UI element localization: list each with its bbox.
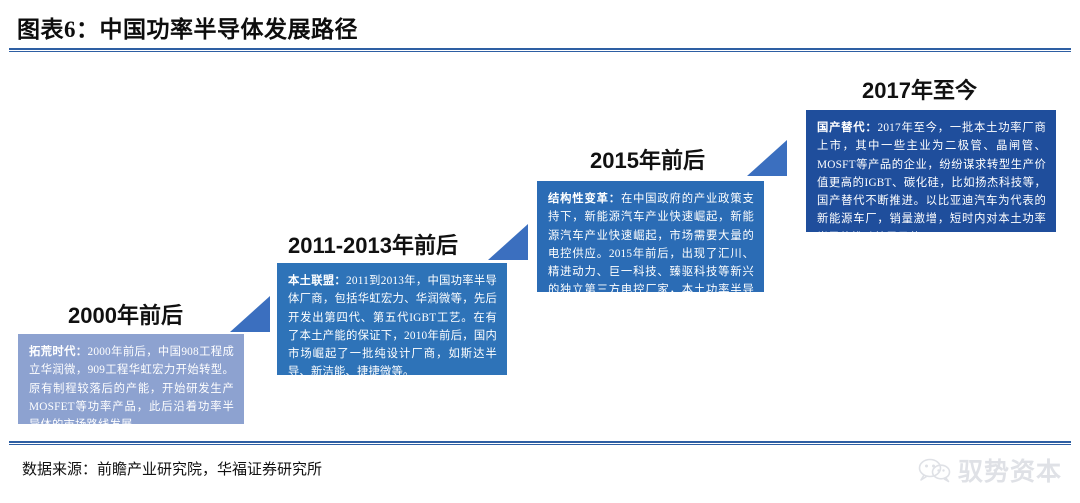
watermark: 驭势资本 — [918, 452, 1062, 488]
stage-body-2: 2011到2013年，中国功率半导体厂商，包括华虹宏力、华润微等，先后开发出第四… — [288, 275, 497, 375]
divider-thin-line — [9, 51, 1071, 52]
stage-description-box-1: 拓荒时代：2000年前后，中国908工程成立华润微，909工程华虹宏力开始转型。… — [18, 334, 244, 424]
stage-arrow-icon-3 — [745, 138, 789, 178]
page-title: 图表6：中国功率半导体发展路径 — [17, 10, 358, 44]
divider-thin-line — [9, 444, 1071, 445]
stage-body-3: 在中国政府的产业政策支持下，新能源汽车产业快速崛起，新能源汽车产业快速崛起，市场… — [548, 193, 754, 292]
stage-arrow-icon-2 — [486, 222, 530, 262]
stage-year-label-4: 2017年至今 — [862, 73, 977, 105]
stage-description-box-3: 结构性变革：在中国政府的产业政策支持下，新能源汽车产业快速崛起，新能源汽车产业快… — [537, 181, 764, 292]
stage-heading-2: 本土联盟： — [288, 275, 346, 287]
stage-heading-1: 拓荒时代： — [29, 346, 88, 358]
stage-year-label-1: 2000年前后 — [68, 298, 183, 330]
watermark-label: 驭势资本 — [958, 452, 1062, 488]
stage-description-box-4: 国产替代：2017年至今，一批本土功率厂商上市，其中一些主业为二极管、晶闸管、M… — [806, 110, 1056, 232]
stage-body-4: 2017年至今，一批本土功率厂商上市，其中一些主业为二极管、晶闸管、MOSFT等… — [817, 122, 1046, 232]
footer-divider — [9, 441, 1071, 445]
stage-heading-4: 国产替代： — [817, 122, 877, 134]
stage-year-label-2: 2011-2013年前后 — [288, 228, 458, 260]
header-divider — [9, 48, 1071, 52]
wechat-icon — [918, 457, 952, 483]
source-note: 数据来源：前瞻产业研究院，华福证券研究所 — [22, 458, 322, 479]
stage-arrow-icon-1 — [228, 294, 272, 334]
stage-heading-3: 结构性变革： — [548, 193, 621, 205]
stage-description-box-2: 本土联盟：2011到2013年，中国功率半导体厂商，包括华虹宏力、华润微等，先后… — [277, 263, 507, 375]
stage-year-label-3: 2015年前后 — [590, 143, 705, 175]
